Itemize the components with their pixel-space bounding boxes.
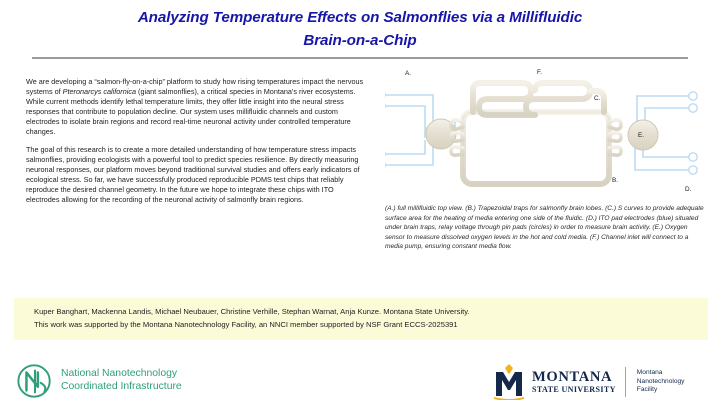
footer-band: Kuper Banghart, Mackenna Landis, Michael… bbox=[14, 298, 708, 340]
title-line-2: Brain-on-a-Chip bbox=[0, 29, 720, 52]
main-chamber-channel bbox=[463, 112, 609, 184]
msu-facility-line-1: Montana bbox=[637, 369, 685, 377]
figure-caption: (A.) full millifluidic top view. (B.) Tr… bbox=[385, 204, 705, 252]
millifluidic-chip-figure: A. F. C. B. E. D. bbox=[385, 64, 707, 204]
page-title: Analyzing Temperature Effects on Salmonf… bbox=[0, 6, 720, 52]
msu-state-university-text: STATE UNIVERSITY bbox=[532, 385, 616, 394]
figure-label-d: D. bbox=[685, 186, 692, 193]
main-chamber-outline bbox=[463, 112, 609, 184]
msu-m-icon bbox=[492, 364, 526, 400]
paragraph-1: We are developing a “salmon-fly-on-a-chi… bbox=[26, 77, 367, 136]
ito-pad-circle bbox=[689, 166, 697, 174]
paragraph-2: The goal of this research is to create a… bbox=[26, 145, 367, 204]
msu-facility-line-3: Facility bbox=[637, 386, 685, 394]
msu-wordmark: MONTANA STATE UNIVERSITY bbox=[532, 370, 616, 394]
title-line-1: Analyzing Temperature Effects on Salmonf… bbox=[0, 6, 720, 29]
abstract-column: We are developing a “salmon-fly-on-a-chi… bbox=[26, 77, 367, 214]
figure-label-e: E. bbox=[638, 132, 644, 139]
msu-logo: MONTANA STATE UNIVERSITY Montana Nanotec… bbox=[492, 362, 706, 402]
msu-montana-text: MONTANA bbox=[532, 370, 616, 385]
msu-facility-line-2: Nanotechnology bbox=[637, 378, 685, 386]
title-divider bbox=[32, 57, 688, 59]
chip-schematic-svg: A. F. C. B. E. D. bbox=[385, 64, 707, 204]
poster-root: Analyzing Temperature Effects on Salmonf… bbox=[0, 0, 720, 405]
figure-label-f: F. bbox=[537, 69, 542, 76]
species-name: Pteronarcys californica bbox=[63, 87, 136, 96]
figure-label-b: B. bbox=[612, 177, 618, 184]
author-list: Kuper Banghart, Mackenna Landis, Michael… bbox=[34, 306, 470, 317]
figure-label-c: C. bbox=[594, 95, 601, 102]
ito-pad-right-group bbox=[689, 92, 697, 174]
ito-pad-circle bbox=[689, 104, 697, 112]
nnci-line-1: National Nanotechnology bbox=[61, 368, 182, 381]
nnci-monogram-icon bbox=[16, 362, 54, 400]
ito-pad-circle bbox=[689, 92, 697, 100]
acknowledgment-text: This work was supported by the Montana N… bbox=[34, 319, 458, 330]
nnci-line-2: Coordinated Infrastructure bbox=[61, 381, 182, 394]
ito-pad-circle bbox=[689, 153, 697, 161]
nnci-logo-text: National Nanotechnology Coordinated Infr… bbox=[61, 368, 182, 393]
msu-logo-divider bbox=[625, 367, 626, 397]
nnci-logo: National Nanotechnology Coordinated Infr… bbox=[16, 360, 266, 402]
msu-facility-text: Montana Nanotechnology Facility bbox=[637, 369, 685, 394]
figure-label-a: A. bbox=[405, 70, 411, 77]
